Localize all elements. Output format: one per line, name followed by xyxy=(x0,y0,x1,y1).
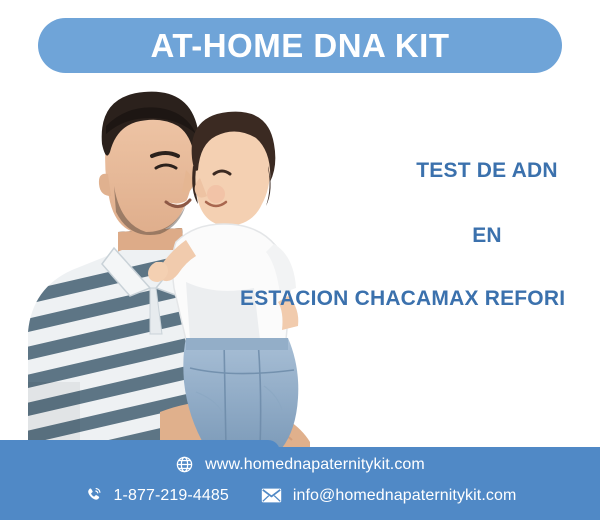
envelope-icon xyxy=(261,486,282,505)
email-text: info@homednapaternitykit.com xyxy=(293,487,517,505)
website-text: www.homednapaternitykit.com xyxy=(205,456,425,474)
globe-icon xyxy=(175,455,194,474)
headline-line-1: TEST DE ADN xyxy=(342,160,600,181)
dna-kit-banner: AT-HOME DNA KIT xyxy=(0,0,600,520)
phone-text: 1-877-219-4485 xyxy=(114,487,229,505)
banner-title-pill: AT-HOME DNA KIT xyxy=(38,18,562,73)
headline-line-2: EN xyxy=(342,225,600,246)
footer-website-row: www.homednapaternitykit.com xyxy=(0,455,600,474)
website-contact[interactable]: www.homednapaternitykit.com xyxy=(175,455,425,474)
phone-icon xyxy=(84,486,103,505)
father-holding-toddler-photo xyxy=(10,82,340,460)
email-contact[interactable]: info@homednapaternitykit.com xyxy=(261,486,517,505)
page-title: AT-HOME DNA KIT xyxy=(151,29,450,62)
phone-contact[interactable]: 1-877-219-4485 xyxy=(84,486,229,505)
footer-contact-row: 1-877-219-4485 info@homednapaternitykit.… xyxy=(0,486,600,505)
